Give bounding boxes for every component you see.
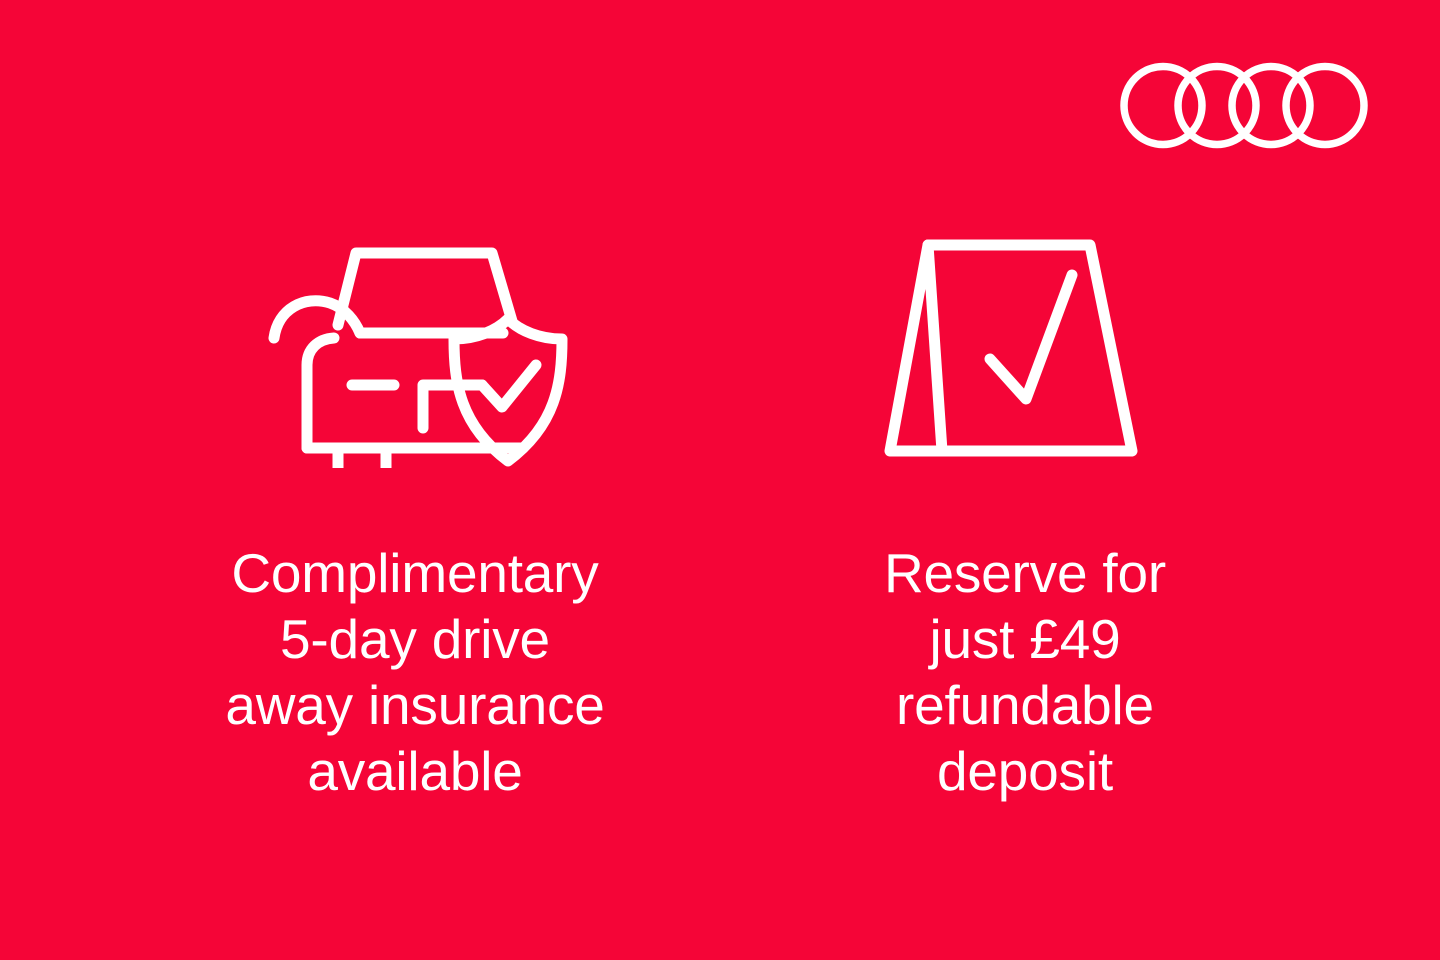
feature-card-deposit: Reserve for just £49 refundable deposit (780, 225, 1270, 804)
features-row: Complimentary 5-day drive away insurance… (0, 225, 1440, 804)
car-shield-insurance-icon (260, 225, 570, 475)
feature-card-insurance: Complimentary 5-day drive away insurance… (170, 225, 660, 804)
audi-four-rings-icon (1120, 58, 1370, 153)
feature-caption-deposit: Reserve for just £49 refundable deposit (884, 540, 1166, 804)
feature-caption-insurance: Complimentary 5-day drive away insurance… (225, 540, 604, 804)
audi-promo-banner: Complimentary 5-day drive away insurance… (0, 0, 1440, 960)
reserved-tent-card-check-icon (880, 225, 1170, 475)
